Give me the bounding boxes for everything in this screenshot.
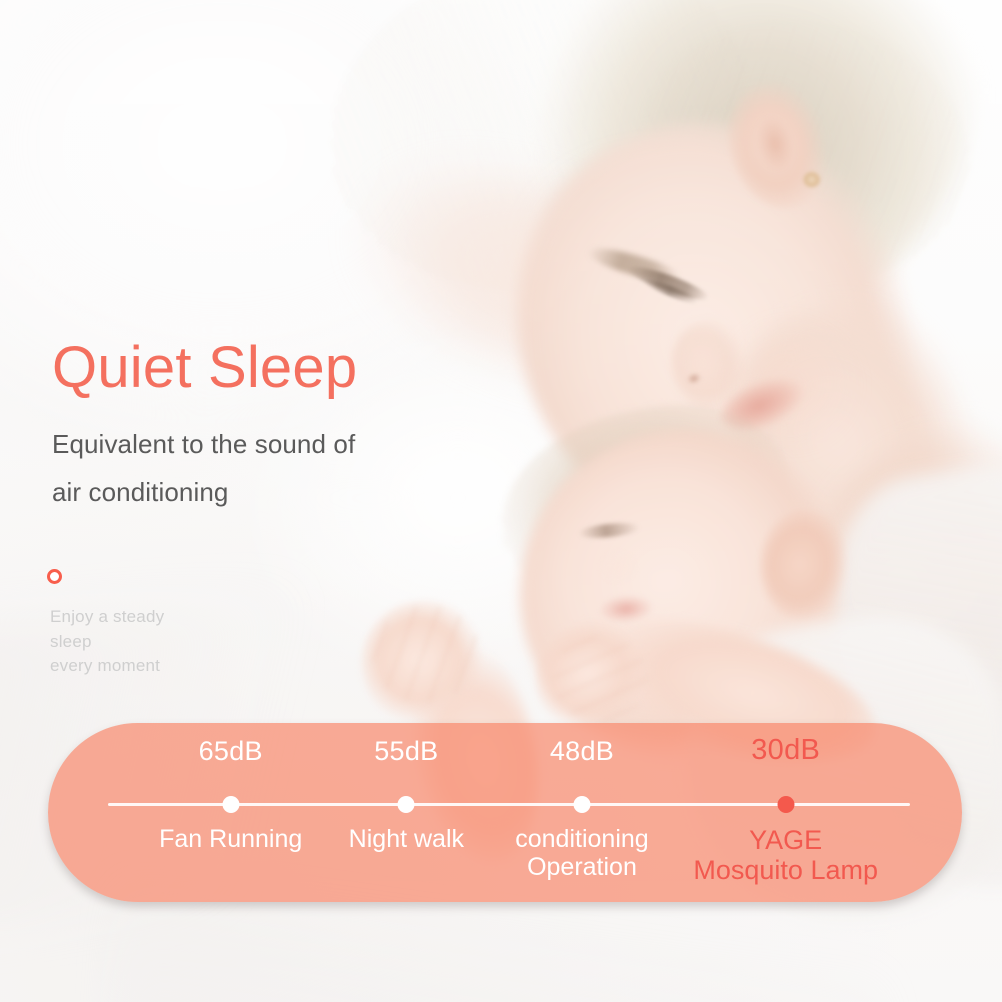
subtitle: Equivalent to the sound of air condition… <box>52 420 355 516</box>
scale-value-1: 65dB <box>199 736 263 767</box>
scale-tick-3 <box>573 796 590 813</box>
scale-value-2: 55dB <box>374 736 438 767</box>
scale-label-2: Night walk <box>349 825 464 853</box>
scale-label-line: Fan Running <box>159 825 302 853</box>
ring-dot-icon <box>47 569 62 584</box>
scale-label-line: Mosquito Lamp <box>693 855 878 885</box>
note-text: Enjoy a steady sleep every moment <box>50 605 164 679</box>
baby-nose <box>596 548 644 590</box>
note-line-3: every moment <box>50 654 164 679</box>
note-line-1: Enjoy a steady <box>50 605 164 630</box>
scale-tick-2 <box>398 796 415 813</box>
scale-label-4: YAGEMosquito Lamp <box>693 825 878 885</box>
earring <box>800 170 826 194</box>
page-title: Quiet Sleep <box>52 338 357 399</box>
scale-label-line: YAGE <box>693 825 878 855</box>
scale-label-line: conditioning <box>515 825 648 853</box>
decibel-scale-bar: 65dBFan Running55dBNight walk48dBconditi… <box>48 723 962 902</box>
subtitle-line-1: Equivalent to the sound of <box>52 420 355 468</box>
decibel-scale-inner: 65dBFan Running55dBNight walk48dBconditi… <box>48 723 962 902</box>
scale-tick-4 <box>777 796 794 813</box>
scale-tick-1 <box>222 796 239 813</box>
scale-label-line: Operation <box>515 853 648 881</box>
scale-value-3: 48dB <box>550 736 614 767</box>
promo-banner: Quiet Sleep Equivalent to the sound of a… <box>0 0 1002 1002</box>
scale-value-4: 30dB <box>751 734 820 767</box>
scale-label-3: conditioningOperation <box>515 825 648 881</box>
subtitle-line-2: air conditioning <box>52 468 355 516</box>
scale-label-1: Fan Running <box>159 825 302 853</box>
scale-label-line: Night walk <box>349 825 464 853</box>
note-line-2: sleep <box>50 630 164 655</box>
